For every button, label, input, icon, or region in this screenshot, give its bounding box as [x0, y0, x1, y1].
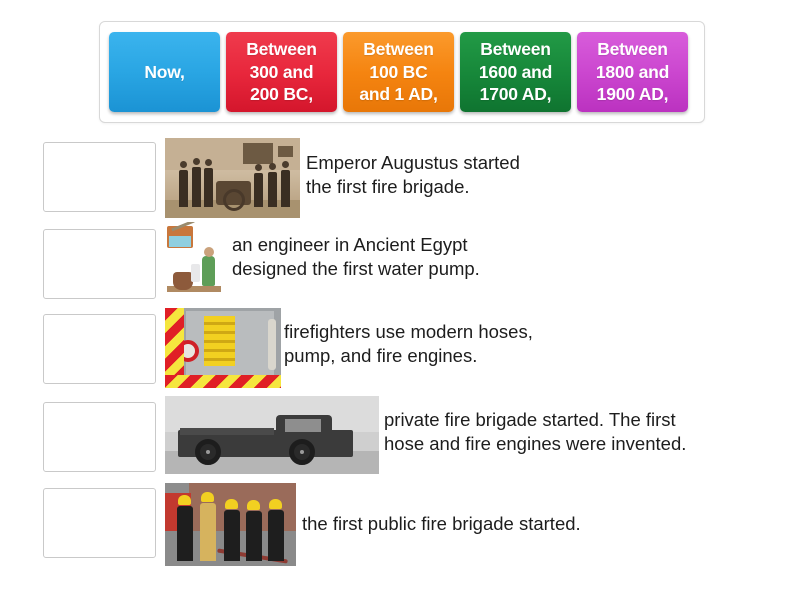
tile-label: Between 1800 and 1900 AD,: [596, 38, 669, 106]
dropzone-public-brigade[interactable]: [43, 488, 156, 558]
row-image-modern-hoses: [165, 308, 281, 388]
row-text-public-brigade: the first public fire brigade started.: [302, 512, 732, 536]
row-image-egypt-pump: [165, 222, 227, 292]
tile-label: Between 100 BC and 1 AD,: [359, 38, 437, 106]
row-image-public-brigade: [165, 483, 296, 566]
tile-label: Now,: [144, 61, 184, 84]
row-text-modern-hoses: firefighters use modern hoses, pump, and…: [284, 320, 714, 369]
draggable-tile-tray: Now, Between 300 and 200 BC, Between 100…: [99, 21, 705, 123]
tile-label: Between 1600 and 1700 AD,: [479, 38, 552, 106]
answer-row-private-brigade: private fire brigade started. The first …: [0, 396, 800, 482]
draggable-tile-100bc-1ad[interactable]: Between 100 BC and 1 AD,: [343, 32, 454, 112]
tile-label: Between 300 and 200 BC,: [246, 38, 317, 106]
dropzone-private-brigade[interactable]: [43, 402, 156, 472]
row-image-augustus: [165, 138, 300, 218]
dropzone-egypt-pump[interactable]: [43, 229, 156, 299]
dropzone-modern-hoses[interactable]: [43, 314, 156, 384]
dropzone-augustus[interactable]: [43, 142, 156, 212]
answer-row-public-brigade: the first public fire brigade started.: [0, 482, 800, 572]
activity-page: Now, Between 300 and 200 BC, Between 100…: [0, 0, 800, 600]
row-image-private-brigade: [165, 396, 379, 474]
answer-row-egypt-pump: an engineer in Ancient Egypt designed th…: [0, 224, 800, 310]
row-text-private-brigade: private fire brigade started. The first …: [384, 408, 794, 457]
row-text-augustus: Emperor Augustus started the first fire …: [306, 151, 726, 200]
draggable-tile-1800-1900-ad[interactable]: Between 1800 and 1900 AD,: [577, 32, 688, 112]
row-text-egypt-pump: an engineer in Ancient Egypt designed th…: [232, 233, 672, 282]
draggable-tile-1600-1700-ad[interactable]: Between 1600 and 1700 AD,: [460, 32, 571, 112]
draggable-tile-300-200-bc[interactable]: Between 300 and 200 BC,: [226, 32, 337, 112]
draggable-tile-now[interactable]: Now,: [109, 32, 220, 112]
answer-row-list: Emperor Augustus started the first fire …: [0, 136, 800, 572]
answer-row-augustus: Emperor Augustus started the first fire …: [0, 136, 800, 224]
answer-row-modern-hoses: firefighters use modern hoses, pump, and…: [0, 310, 800, 396]
